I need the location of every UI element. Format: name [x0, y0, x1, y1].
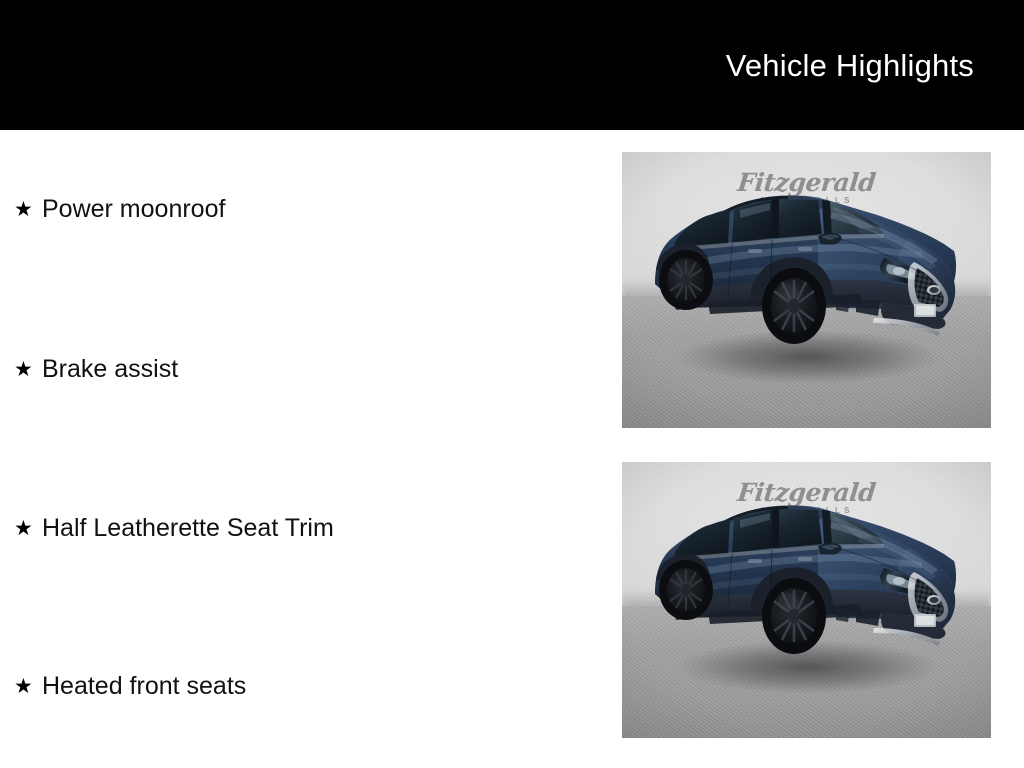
list-item: ★ Power moonroof — [14, 196, 225, 224]
vehicle-image — [622, 152, 991, 428]
star-bullet-icon: ★ — [14, 359, 42, 380]
feature-label: Half Leatherette Seat Trim — [42, 515, 334, 543]
feature-label: Power moonroof — [42, 196, 225, 224]
list-item: ★ Heated front seats — [14, 673, 246, 701]
list-item: ★ Brake assist — [14, 356, 178, 384]
feature-label: Brake assist — [42, 356, 178, 384]
vehicle-highlights-list: ★ Power moonroof ★ Brake assist ★ Half L… — [0, 130, 610, 768]
vehicle-photo-top: Fitzgerald AUTO MALLS — [622, 152, 991, 428]
feature-label: Heated front seats — [42, 673, 246, 701]
vehicle-image — [622, 462, 991, 738]
page-title: Vehicle Highlights — [726, 48, 974, 84]
vehicle-photo-bottom: Fitzgerald AUTO MALLS — [622, 462, 991, 738]
star-bullet-icon: ★ — [14, 676, 42, 697]
header-band: Vehicle Highlights — [0, 0, 1024, 130]
star-bullet-icon: ★ — [14, 199, 42, 220]
list-item: ★ Half Leatherette Seat Trim — [14, 515, 334, 543]
vehicle-highlights-page: Vehicle Highlights ★ Power moonroof ★ Br… — [0, 0, 1024, 768]
star-bullet-icon: ★ — [14, 518, 42, 539]
